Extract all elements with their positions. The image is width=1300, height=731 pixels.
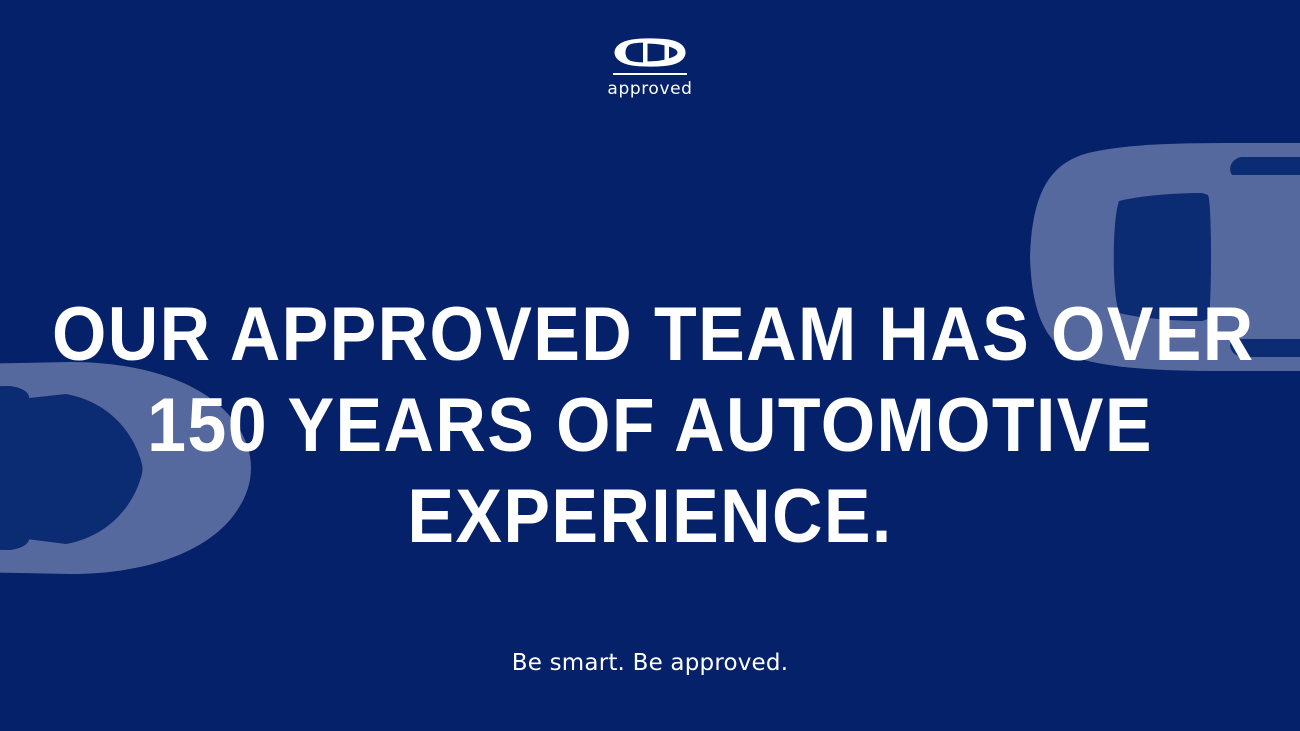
headline: OUR APPROVED TEAM HAS OVER 150 YEARS OF … xyxy=(0,289,1300,562)
car-top-view-icon xyxy=(613,38,687,67)
headline-line-2: 150 YEARS OF AUTOMOTIVE xyxy=(52,380,1248,471)
headline-line-3: EXPERIENCE. xyxy=(52,471,1248,562)
brand-logo: approved xyxy=(0,38,1300,98)
promo-slide: approved OUR APPROVED TEAM HAS OVER 150 … xyxy=(0,0,1300,731)
headline-line-1: OUR APPROVED TEAM HAS OVER xyxy=(52,289,1248,380)
tagline: Be smart. Be approved. xyxy=(0,652,1300,675)
logo-wordmark: approved xyxy=(607,81,692,98)
logo-divider xyxy=(613,73,687,75)
